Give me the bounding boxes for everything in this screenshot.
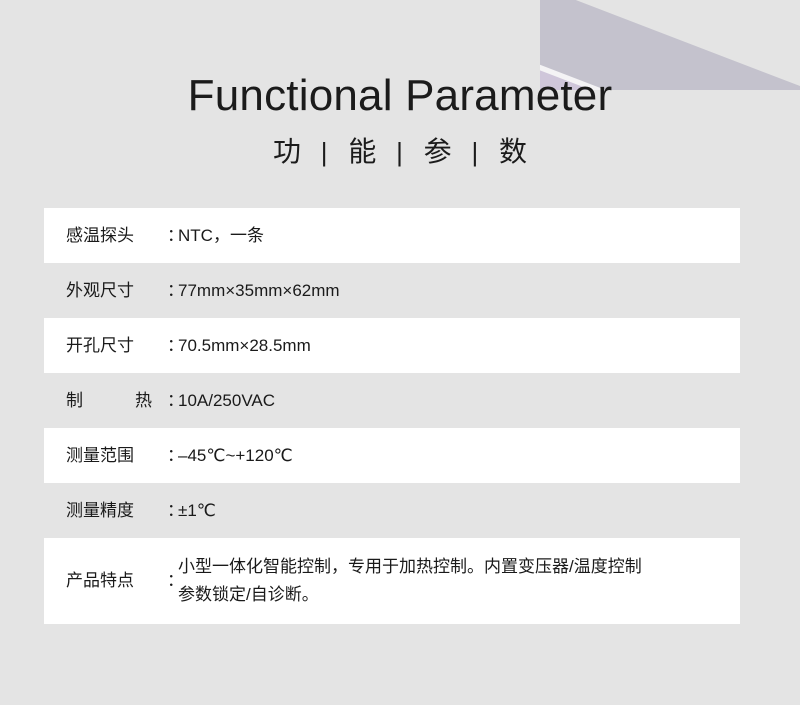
spec-colon: ： [167, 387, 177, 415]
spec-value: ±1℃ [177, 497, 740, 525]
subtitle-separator-3: | [460, 137, 490, 167]
spec-label: 开孔尺寸 [66, 332, 167, 360]
table-row: 制 热 ： 10A/250VAC [44, 373, 740, 428]
spec-value: 77mm×35mm×62mm [177, 277, 740, 305]
subtitle-char-2: 能 [348, 136, 376, 167]
spec-label: 感温探头 [66, 222, 167, 250]
table-row: 外观尺寸 ： 77mm×35mm×62mm [44, 263, 740, 318]
spec-value: 70.5mm×28.5mm [177, 332, 740, 360]
table-row: 产品特点 ： 小型一体化智能控制，专用于加热控制。内置变压器/温度控制 参数锁定… [44, 538, 740, 624]
spec-label: 外观尺寸 [66, 277, 167, 305]
spec-colon: ： [167, 332, 177, 360]
subtitle-separator-2: | [385, 137, 415, 167]
spec-colon: ： [167, 277, 177, 305]
spec-label: 测量范围 [66, 442, 167, 470]
spec-value-line-1: 小型一体化智能控制，专用于加热控制。内置变压器/温度控制 [178, 557, 642, 576]
table-row: 测量范围 ： –45℃~+120℃ [44, 428, 740, 483]
spec-value: NTC，一条 [177, 222, 740, 250]
spec-colon: ： [167, 222, 177, 250]
spec-colon: ： [167, 442, 177, 470]
spec-label: 测量精度 [66, 497, 167, 525]
spec-colon: ： [167, 567, 177, 595]
page-header: Functional Parameter 功 | 能 | 参 | 数 [0, 0, 800, 166]
subtitle-char-3: 参 [424, 136, 452, 167]
spec-value-line-2: 参数锁定/自诊断。 [178, 581, 740, 609]
spec-value: 小型一体化智能控制，专用于加热控制。内置变压器/温度控制 参数锁定/自诊断。 [177, 553, 740, 609]
subtitle-separator-1: | [310, 137, 340, 167]
spec-colon: ： [167, 497, 177, 525]
spec-value: 10A/250VAC [177, 387, 740, 415]
spec-label: 产品特点 [66, 567, 167, 595]
spec-value: –45℃~+120℃ [177, 442, 740, 470]
page-title: Functional Parameter [0, 0, 800, 118]
table-row: 测量精度 ： ±1℃ [44, 483, 740, 538]
spec-label-part-1: 制 [66, 387, 83, 415]
specification-table: 感温探头 ： NTC，一条 外观尺寸 ： 77mm×35mm×62mm 开孔尺寸… [44, 208, 740, 624]
page-subtitle: 功 | 能 | 参 | 数 [0, 118, 800, 166]
table-row: 感温探头 ： NTC，一条 [44, 208, 740, 263]
subtitle-char-1: 功 [273, 136, 301, 167]
subtitle-char-4: 数 [499, 136, 527, 167]
table-row: 开孔尺寸 ： 70.5mm×28.5mm [44, 318, 740, 373]
spec-label: 制 热 [66, 387, 167, 415]
spec-label-part-2: 热 [135, 387, 152, 415]
